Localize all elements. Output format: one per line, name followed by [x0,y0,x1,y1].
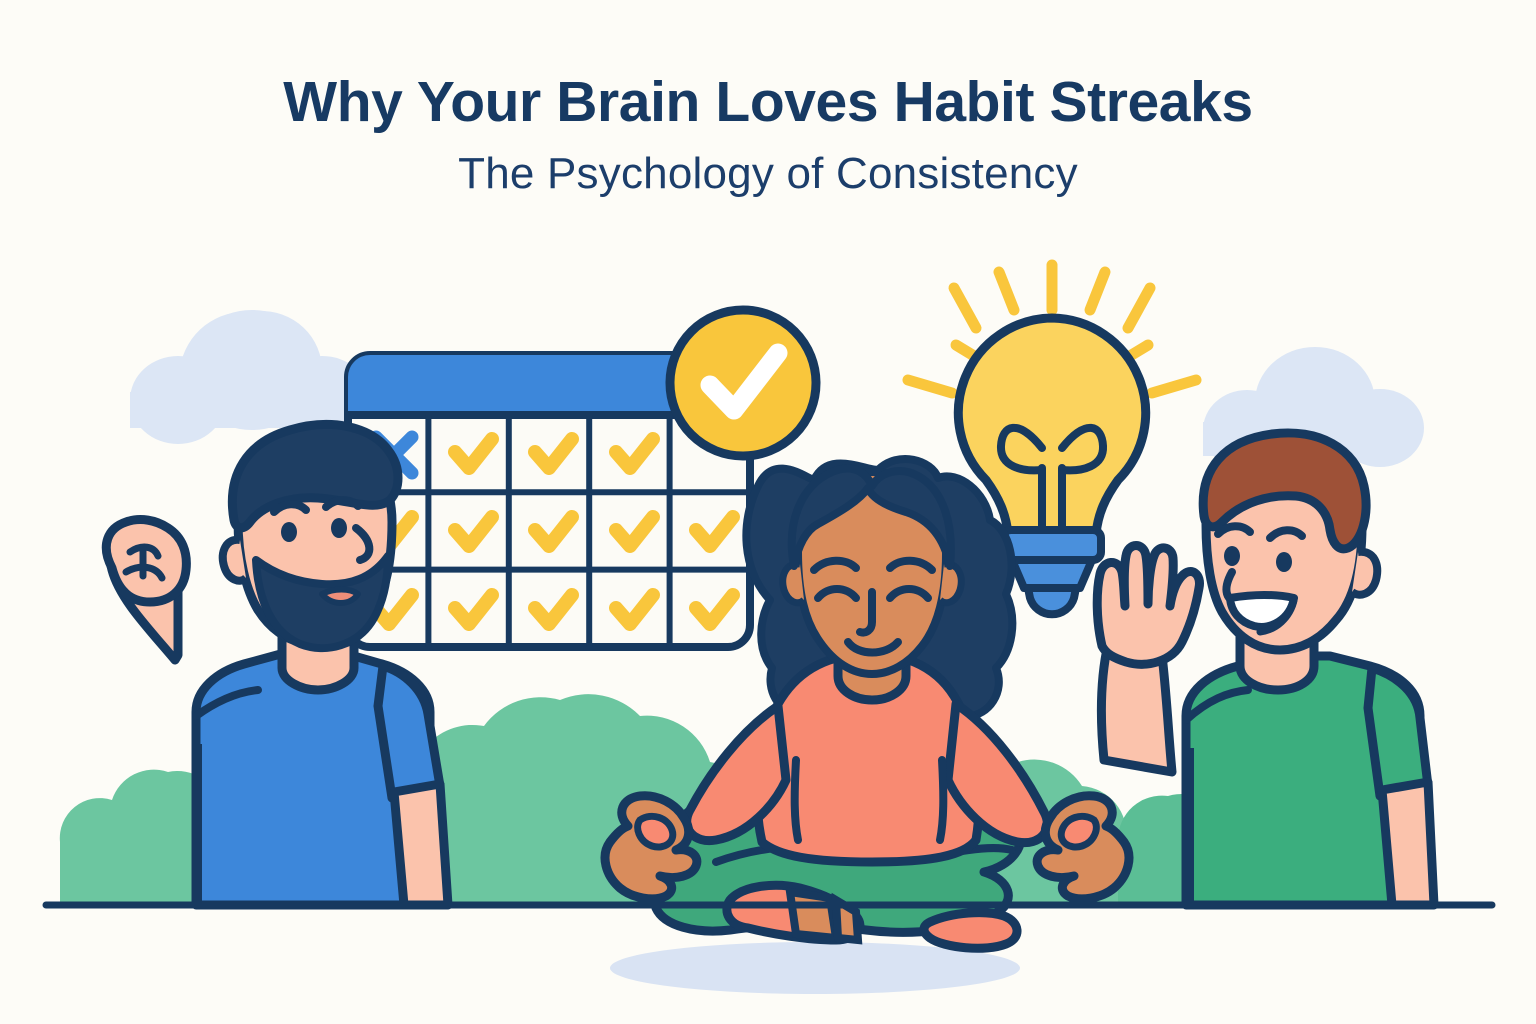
lightbulb-collar [1003,530,1101,560]
right-figure-eye [1224,546,1240,566]
habit-streak-illustration [0,0,1536,1024]
center-figure-foot-right [924,913,1017,949]
hand-thumb-loop [1061,816,1096,847]
streak-complete-badge[interactable] [670,310,816,456]
left-figure-lower-arm [394,784,448,905]
top-seam-line [940,760,943,840]
illustration-canvas: Why Your Brain Loves Habit Streaks The P… [0,0,1536,1024]
lightbulb-tip [1028,588,1076,614]
hand-thumb-loop [638,816,673,847]
right-figure-eye [1276,552,1292,572]
right-figure-lower-arm [1382,782,1434,905]
left-figure-eye [331,518,347,538]
left-figure-mouth [322,590,358,604]
top-seam-line [795,760,798,840]
left-figure-eye [281,522,297,542]
lightbulb-base [1012,560,1092,588]
foot-skin-band [790,892,836,938]
